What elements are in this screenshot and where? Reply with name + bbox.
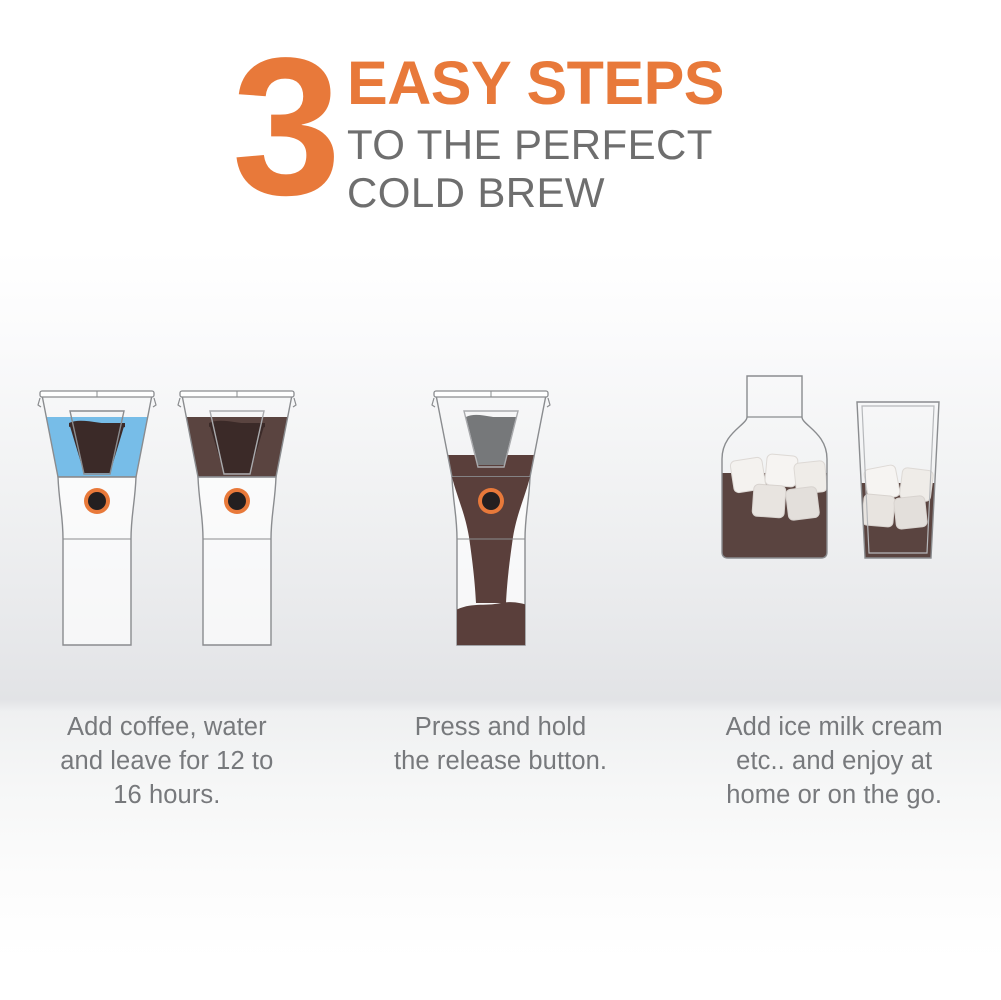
step-1-caption: Add coffee, water and leave for 12 to 16…	[60, 711, 273, 813]
caption-line: 16 hours.	[60, 779, 273, 813]
header-inner: 3 EASY STEPS TO THE PERFECT COLD BREW	[232, 40, 724, 218]
milk-bottle	[719, 376, 834, 563]
steps-row: Add coffee, water and leave for 12 to 16…	[0, 355, 1001, 835]
infographic-poster: 3 EASY STEPS TO THE PERFECT COLD BREW	[0, 0, 1001, 1000]
ice-cube	[752, 484, 786, 518]
headline-easy-steps: EASY STEPS	[347, 54, 724, 113]
release-button-center[interactable]	[482, 492, 500, 510]
step-3-caption: Add ice milk cream etc.. and enjoy at ho…	[726, 711, 943, 813]
release-button-center[interactable]	[88, 492, 106, 510]
subline-to-the-perfect: TO THE PERFECT	[347, 121, 724, 170]
clip-right	[547, 398, 550, 407]
carafe-release	[432, 391, 550, 650]
bottle-and-glass-svg	[709, 355, 959, 685]
step-3-illustration	[709, 355, 959, 685]
clip-left	[432, 398, 435, 407]
clip-left	[178, 398, 181, 407]
carafe-steeped	[178, 391, 296, 645]
step-1: Add coffee, water and leave for 12 to 16…	[0, 355, 334, 835]
step-2-illustration	[421, 355, 581, 685]
header-text-block: EASY STEPS TO THE PERFECT COLD BREW	[347, 40, 724, 218]
step-2-caption: Press and hold the release button.	[394, 711, 607, 779]
step-3: Add ice milk cream etc.. and enjoy at ho…	[667, 355, 1001, 835]
carafe-pouring-svg	[421, 355, 581, 685]
drinking-glass	[854, 402, 944, 563]
clip-left	[38, 398, 41, 407]
caption-line: home or on the go.	[726, 779, 943, 813]
two-carafes-svg	[27, 355, 307, 685]
big-numeral-3: 3	[232, 36, 337, 218]
clip-right	[293, 398, 296, 407]
ice-cube	[894, 495, 928, 529]
ice-cube	[765, 454, 799, 488]
caption-line: Add coffee, water	[60, 711, 273, 745]
carafe-water	[38, 391, 156, 645]
caption-line: Add ice milk cream	[726, 711, 943, 745]
caption-line: the release button.	[394, 745, 607, 779]
step-2: Press and hold the release button.	[334, 355, 668, 835]
ice-cube	[785, 486, 820, 521]
caption-line: Press and hold	[394, 711, 607, 745]
caption-line: and leave for 12 to	[60, 745, 273, 779]
header: 3 EASY STEPS TO THE PERFECT COLD BREW	[0, 0, 1001, 250]
coffee-pool	[451, 602, 533, 650]
release-button-center[interactable]	[228, 492, 246, 510]
clip-right	[153, 398, 156, 407]
caption-line: etc.. and enjoy at	[726, 745, 943, 779]
step-1-illustration	[27, 355, 307, 685]
subline-cold-brew: COLD BREW	[347, 169, 724, 218]
